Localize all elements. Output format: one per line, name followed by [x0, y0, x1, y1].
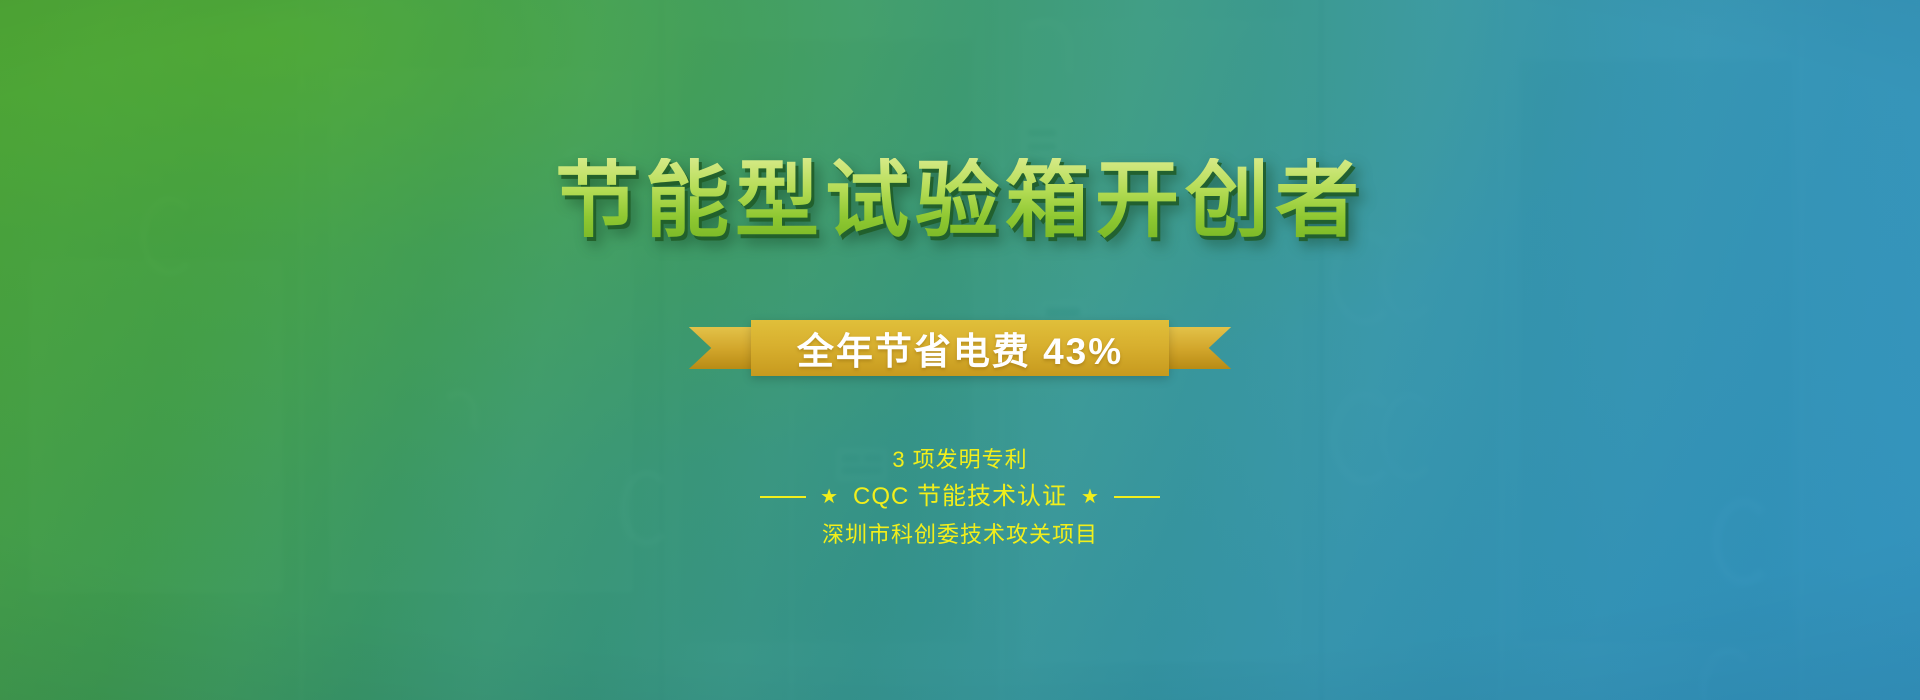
- credential-certification: ★ CQC 节能技术认证 ★: [760, 484, 1160, 510]
- credential-patents: 3 项发明专利: [892, 448, 1027, 472]
- rule-left-icon: [760, 496, 806, 498]
- star-right-icon: ★: [1081, 487, 1100, 507]
- credentials-block: 3 项发明专利 ★ CQC 节能技术认证 ★ 深圳市科创委技术攻关项目: [760, 448, 1160, 547]
- hero-banner: 节能型试验箱开创者 全年节省电费 43% 3 项发明专利 ★ CQC 节能技术认…: [0, 0, 1920, 700]
- rule-right-icon: [1114, 496, 1160, 498]
- ribbon-tail-right-icon: [1165, 327, 1231, 369]
- ribbon-label: 全年节省电费 43%: [797, 321, 1123, 375]
- ribbon-body: 全年节省电费 43%: [751, 320, 1169, 376]
- banner-headline: 节能型试验箱开创者: [555, 158, 1365, 242]
- ribbon-tail-left-icon: [689, 327, 755, 369]
- certification-label: CQC 节能技术认证: [853, 484, 1067, 510]
- star-left-icon: ★: [820, 487, 839, 507]
- credential-project: 深圳市科创委技术攻关项目: [822, 523, 1098, 547]
- savings-ribbon: 全年节省电费 43%: [751, 320, 1169, 376]
- banner-content: 节能型试验箱开创者 全年节省电费 43% 3 项发明专利 ★ CQC 节能技术认…: [0, 0, 1920, 700]
